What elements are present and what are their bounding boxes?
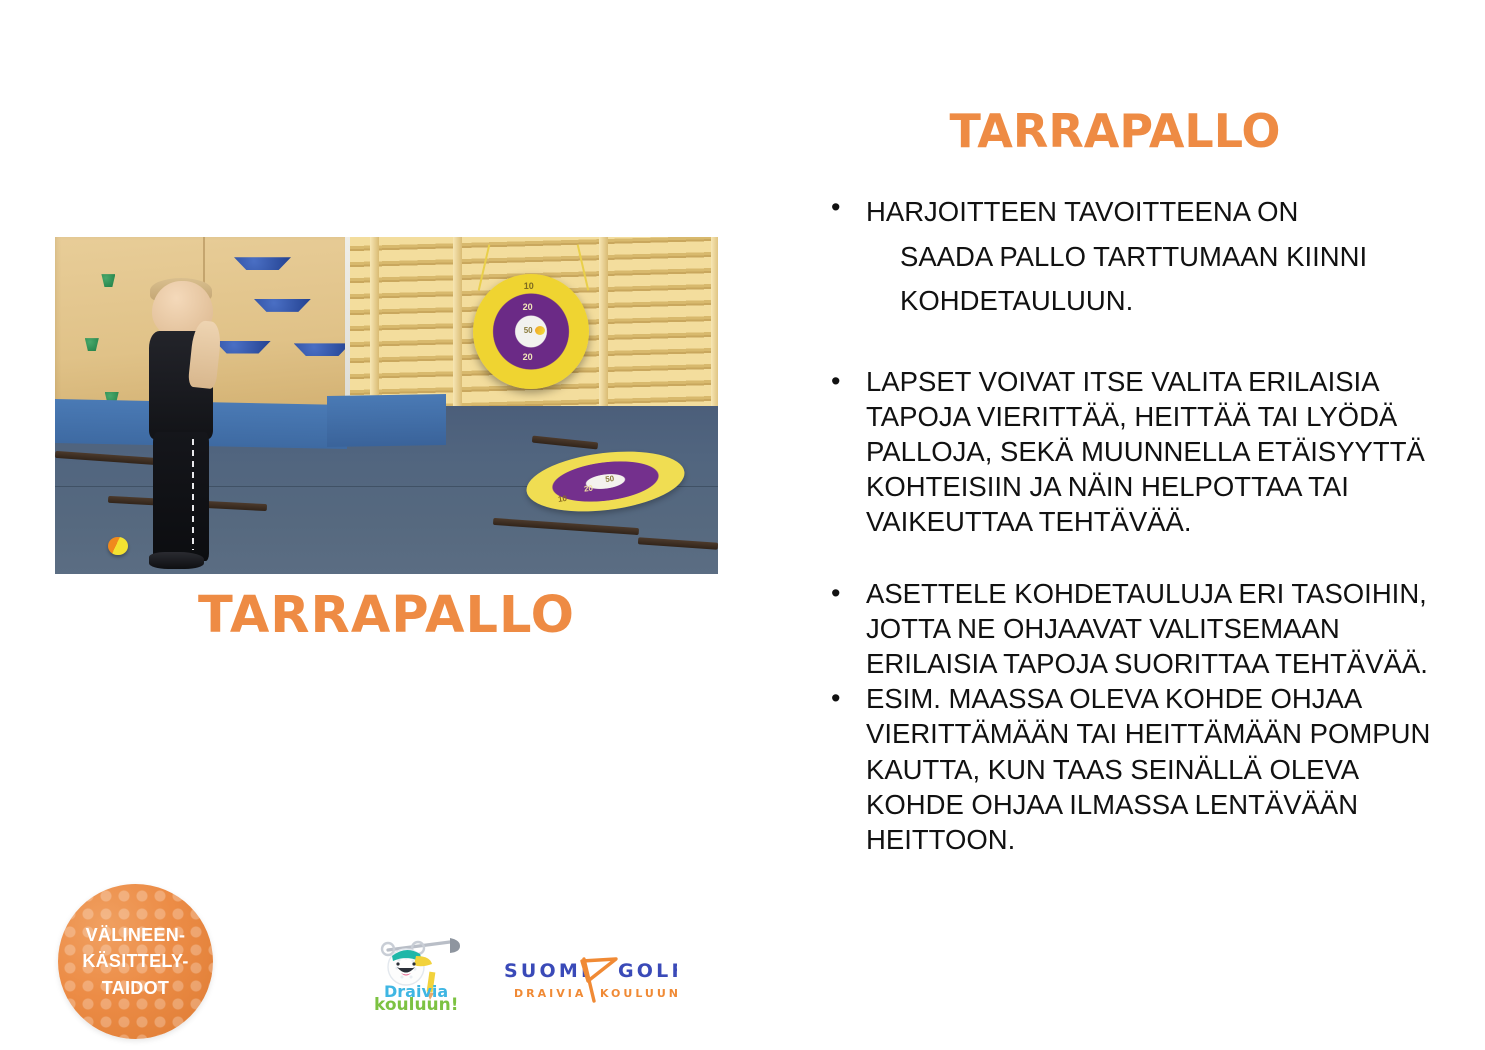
- wall-target-score-10: 10: [524, 281, 534, 291]
- kouluun-subword: KOULUUN: [600, 987, 677, 1000]
- page-title: TARRAPALLO: [745, 104, 1485, 158]
- bullet-goal-line-2: SAADA PALLO TARTTUMAAN KIINNI: [866, 235, 1463, 280]
- spacer: [823, 324, 1463, 364]
- bullet-marker-icon: •: [831, 190, 840, 226]
- bullet-variations-text: LAPSET VOIVAT ITSE VALITA ERILAISIA TAPO…: [866, 366, 1425, 538]
- wall-bar-post: [711, 237, 718, 426]
- floor-target-score-50: 50: [604, 473, 614, 483]
- skill-badge: VÄLINEEN- KÄSITTELY- TAIDOT: [58, 884, 213, 1039]
- bullet-goal-line-3: KOHDETAULUUN.: [866, 279, 1463, 324]
- logo-wordmark-kouluun: kouluun!: [374, 995, 459, 1014]
- draivia-kouluun-logo: Draivia kouluun!: [362, 934, 474, 1014]
- bullet-example-text: ESIM. MAASSA OLEVA KOHDE OHJAA VIERITTÄM…: [866, 683, 1430, 855]
- slide-root: 10 20 50 20 10 20 50: [0, 0, 1485, 1050]
- skill-badge-line-2: KÄSITTELY-: [82, 951, 188, 971]
- right-column: TARRAPALLO • HARJOITTEEN TAVOITTEENA ON …: [745, 0, 1485, 1050]
- photo-caption: TARRAPALLO: [55, 586, 718, 645]
- bullet-marker-icon: •: [831, 364, 840, 400]
- suomi-word: SUOMI: [504, 960, 591, 982]
- skill-badge-line-1: VÄLINEEN-: [86, 925, 186, 945]
- bullet-variations: • LAPSET VOIVAT ITSE VALITA ERILAISIA TA…: [823, 364, 1463, 540]
- spacer: [823, 540, 1463, 576]
- skill-badge-text: VÄLINEEN- KÄSITTELY- TAIDOT: [82, 922, 188, 1000]
- photo-canvas: 10 20 50 20 10 20 50: [55, 237, 718, 574]
- child-shoe: [149, 552, 203, 569]
- bullet-marker-icon: •: [831, 576, 840, 612]
- wall-bar-post: [453, 237, 462, 426]
- floor-target-score-10: 10: [557, 493, 567, 503]
- child-legs: [153, 432, 209, 560]
- draivia-subword: DRAIVIA: [514, 987, 586, 1000]
- bullet-example: • ESIM. MAASSA OLEVA KOHDE OHJAA VIERITT…: [823, 681, 1463, 857]
- bullet-goal-line-1: HARJOITTEEN TAVOITTEENA ON: [866, 196, 1298, 227]
- wall-target: 10 20 50 20: [473, 274, 589, 389]
- gym-exercise-photo: 10 20 50 20 10 20 50: [55, 237, 718, 574]
- bullet-levels-text: ASETTELE KOHDETAULUJA ERI TASOIHIN, JOTT…: [866, 578, 1428, 679]
- bullet-list: • HARJOITTEEN TAVOITTEENA ON SAADA PALLO…: [823, 190, 1463, 857]
- bullet-marker-icon: •: [831, 681, 840, 717]
- left-column: 10 20 50 20 10 20 50: [0, 0, 745, 1050]
- wall-target-score-50: 50: [524, 326, 533, 335]
- child-trouser-stripe: [192, 439, 194, 550]
- suomi-golf-logo: SUOMI GOLF DRAIVIA KOULUUN: [502, 955, 677, 1007]
- floor-target-score-20: 20: [583, 483, 593, 493]
- skill-badge-line-3: TAIDOT: [102, 978, 169, 998]
- bullet-levels: • ASETTELE KOHDETAULUJA ERI TASOIHIN, JO…: [823, 576, 1463, 682]
- wall-target-score-20-bottom: 20: [523, 352, 533, 362]
- wall-target-score-20-top: 20: [523, 302, 533, 312]
- suomi-golf-logo-svg: SUOMI GOLF DRAIVIA KOULUUN: [502, 955, 677, 1007]
- floor-skirting: [327, 394, 446, 447]
- golf-word: GOLF: [618, 960, 677, 982]
- draivia-kouluun-logo-svg: Draivia kouluun!: [362, 934, 474, 1014]
- bullet-goal: • HARJOITTEEN TAVOITTEENA ON SAADA PALLO…: [823, 190, 1463, 324]
- stuck-ball: [535, 326, 545, 335]
- wall-bar-post: [599, 237, 608, 426]
- golf-ball-mascot-icon: [388, 949, 432, 985]
